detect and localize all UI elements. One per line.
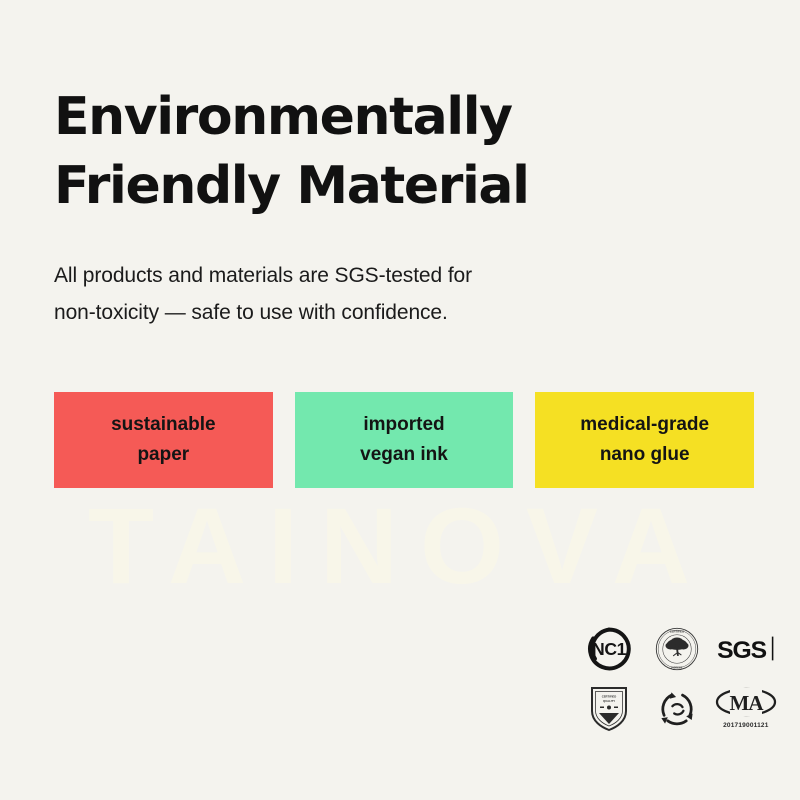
chip-label-line-2: paper <box>137 440 189 470</box>
recycling-loop-icon <box>646 679 708 737</box>
chip-label-line-2: vegan ink <box>360 440 448 470</box>
fsc-tree-seal-icon: CERTIFIED FOREST <box>646 620 708 678</box>
page-subtitle: All products and materials are SGS-teste… <box>54 257 694 331</box>
poster-canvas: TAINOVA Environmentally Friendly Materia… <box>0 0 800 800</box>
page-title: Environmentally Friendly Material <box>54 83 754 221</box>
svg-text:FOREST: FOREST <box>672 665 683 669</box>
chip-label-line-2: nano glue <box>600 440 690 470</box>
material-chip-group: sustainable paper imported vegan ink med… <box>54 392 754 488</box>
page-subtitle-line-1: All products and materials are SGS-teste… <box>54 257 694 294</box>
svg-text:QUALITY: QUALITY <box>603 699 615 703</box>
cma-certificate-number: 201719001121 <box>723 722 768 729</box>
chip-label-line-1: medical-grade <box>580 410 709 440</box>
chip-label-line-1: imported <box>363 410 444 440</box>
material-chip-imported-vegan-ink: imported vegan ink <box>295 392 514 488</box>
svg-text:CERTIFIED: CERTIFIED <box>602 695 617 699</box>
sgs-certification-icon: SGS <box>715 620 777 678</box>
brand-watermark: TAINOVA <box>0 486 800 606</box>
svg-text:MA: MA <box>729 691 764 715</box>
certification-badge-group: NC1 CERTIFIED FORES <box>575 620 780 738</box>
svg-text:SGS: SGS <box>717 637 767 663</box>
nc1-certification-icon: NC1 <box>578 620 640 678</box>
page-title-line-2: Friendly Material <box>54 152 754 221</box>
material-chip-sustainable-paper: sustainable paper <box>54 392 273 488</box>
chip-label-line-1: sustainable <box>111 410 216 440</box>
page-subtitle-line-2: non-toxicity — safe to use with confiden… <box>54 294 694 331</box>
svg-text:NC1: NC1 <box>592 639 627 659</box>
material-chip-medical-grade-nano-glue: medical-grade nano glue <box>535 392 754 488</box>
cma-certification-icon: MA 201719001121 <box>715 679 777 737</box>
page-title-line-1: Environmentally <box>54 83 754 152</box>
quality-shield-icon: CERTIFIED QUALITY <box>578 679 640 737</box>
svg-text:CERTIFIED: CERTIFIED <box>670 629 685 633</box>
